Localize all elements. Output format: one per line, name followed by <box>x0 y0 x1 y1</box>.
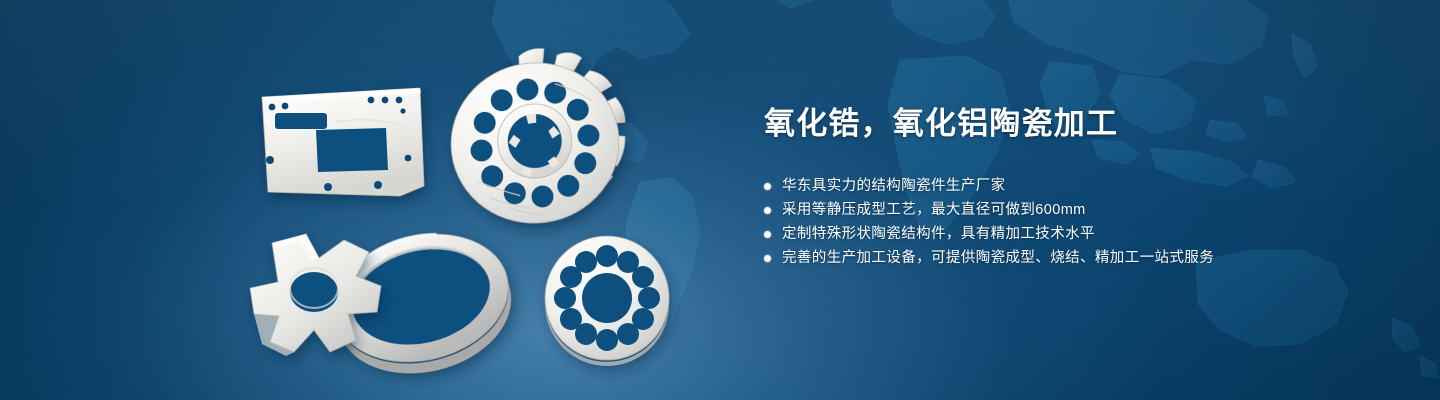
ceramic-perforated-disc-part <box>545 236 669 366</box>
ceramic-products-photo <box>0 0 740 400</box>
list-item-label: 完善的生产加工设备，可提供陶瓷成型、烧结、精加工一站式服务 <box>782 250 1214 267</box>
list-item-label: 采用等静压成型工艺，最大直径可做到600mm <box>782 202 1086 219</box>
list-item: 华东具实力的结构陶瓷件生产厂家 <box>764 178 1324 195</box>
list-item-label: 定制特殊形状陶瓷结构件，具有精加工技术水平 <box>782 226 1095 243</box>
bullet-dot-icon <box>764 255 771 262</box>
feature-list: 华东具实力的结构陶瓷件生产厂家 采用等静压成型工艺，最大直径可做到600mm 定… <box>764 178 1324 267</box>
bullet-dot-icon <box>764 207 771 214</box>
ceramic-plate-part <box>262 88 424 196</box>
ceramic-impeller-part <box>439 38 638 234</box>
hero-banner: 氧化锆，氧化铝陶瓷加工 华东具实力的结构陶瓷件生产厂家 采用等静压成型工艺，最大… <box>0 0 1440 400</box>
page-title: 氧化锆，氧化铝陶瓷加工 <box>764 104 1324 144</box>
list-item-label: 华东具实力的结构陶瓷件生产厂家 <box>782 178 1006 195</box>
bullet-dot-icon <box>764 183 771 190</box>
list-item: 采用等静压成型工艺，最大直径可做到600mm <box>764 202 1324 219</box>
copy-block: 氧化锆，氧化铝陶瓷加工 华东具实力的结构陶瓷件生产厂家 采用等静压成型工艺，最大… <box>764 104 1324 274</box>
list-item: 完善的生产加工设备，可提供陶瓷成型、烧结、精加工一站式服务 <box>764 250 1324 267</box>
list-item: 定制特殊形状陶瓷结构件，具有精加工技术水平 <box>764 226 1324 243</box>
bullet-dot-icon <box>764 231 771 238</box>
